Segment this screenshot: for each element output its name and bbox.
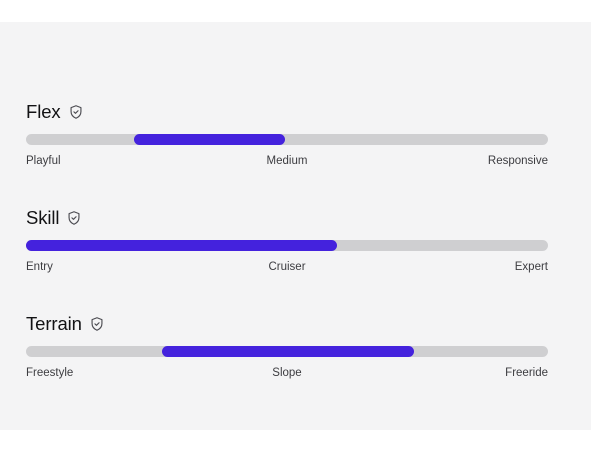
scale-label-right: Freeride: [505, 366, 548, 380]
slider-scale: Playful Medium Responsive: [26, 154, 548, 168]
slider-range-fill[interactable]: [162, 346, 414, 357]
slider-group-terrain: Terrain Freestyle Slope Freeride: [26, 312, 548, 380]
slider-group-skill: Skill Entry Cruiser Expert: [26, 206, 548, 274]
scale-label-right: Expert: [515, 260, 548, 274]
slider-group-flex: Flex Playful Medium Responsive: [26, 100, 548, 168]
slider-track[interactable]: [26, 346, 548, 357]
slider-scale: Entry Cruiser Expert: [26, 260, 548, 274]
slider-track[interactable]: [26, 134, 548, 145]
slider-range-fill[interactable]: [26, 240, 337, 251]
shield-check-icon: [66, 210, 82, 226]
group-title: Flex: [26, 103, 61, 122]
group-title: Skill: [26, 209, 59, 228]
scale-label-middle: Slope: [272, 366, 301, 380]
group-header: Skill: [26, 206, 548, 230]
scale-label-middle: Medium: [267, 154, 308, 168]
slider-scale: Freestyle Slope Freeride: [26, 366, 548, 380]
group-header: Flex: [26, 100, 548, 124]
shield-check-icon: [68, 104, 84, 120]
slider-range-fill[interactable]: [134, 134, 285, 145]
slider-track[interactable]: [26, 240, 548, 251]
content-panel: Flex Playful Medium Responsive Skil: [0, 22, 591, 430]
scale-label-left: Freestyle: [26, 366, 73, 380]
scale-label-right: Responsive: [488, 154, 548, 168]
scale-label-middle: Cruiser: [268, 260, 305, 274]
shield-check-icon: [89, 316, 105, 332]
group-title: Terrain: [26, 315, 82, 334]
group-header: Terrain: [26, 312, 548, 336]
scale-label-left: Entry: [26, 260, 53, 274]
scale-label-left: Playful: [26, 154, 61, 168]
